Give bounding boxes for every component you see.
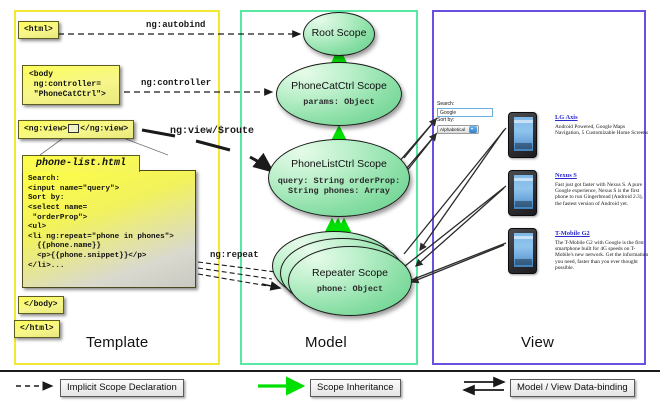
search-label: Search: — [437, 101, 495, 108]
legend-item-implicit-scope: Implicit Scope Declaration — [60, 379, 184, 397]
column-label-view: View — [521, 334, 554, 351]
phone-thumbnail — [508, 170, 537, 216]
code-tag-ngview: <ng:view></ng:view> — [18, 120, 134, 139]
scope-phonelistctrl-props: query: String orderProp: String phones: … — [269, 176, 409, 196]
scope-phonecatctrl-props: params: Object — [303, 97, 374, 107]
column-label-model: Model — [305, 334, 347, 351]
scope-root-name: Root Scope — [312, 28, 367, 40]
ngview-close-text: </ng:view> — [80, 125, 128, 134]
sort-label: Sort by: — [437, 117, 495, 124]
view-search-form: Search: Google Sort by: Alphabetical — [437, 101, 495, 134]
chevron-down-icon — [469, 126, 477, 133]
code-tag-body-open: <body ng:controller= "PhoneCatCtrl"> — [22, 65, 120, 105]
label-ng-view-route: ng:view/$route — [170, 126, 254, 137]
phone-snippet: The T-Mobile G2 with Google is the first… — [555, 240, 650, 272]
phone-thumbnail — [508, 228, 537, 274]
scope-repeater-name: Repeater Scope — [312, 268, 388, 280]
legend-item-data-binding: Model / View Data-binding — [510, 379, 635, 397]
ngview-open-text: <ng:view> — [24, 125, 67, 134]
scope-repeater-props: phone: Object — [317, 284, 383, 294]
code-tag-html-close: </html> — [14, 320, 60, 338]
search-input[interactable]: Google — [437, 108, 493, 117]
label-ng-repeat: ng:repeat — [210, 250, 259, 260]
column-label-template: Template — [86, 334, 148, 351]
diagram-root: <html> <body ng:controller= "PhoneCatCtr… — [0, 0, 660, 405]
code-tag-html-open: <html> — [18, 21, 59, 39]
legend-item-scope-inheritance: Scope Inheritance — [310, 379, 401, 397]
label-ng-controller: ng:controller — [141, 78, 211, 88]
sort-select[interactable]: Alphabetical — [437, 125, 479, 134]
scope-phonelistctrl: PhoneListCtrl Scope query: String orderP… — [268, 139, 410, 217]
scope-phonecatctrl-name: PhoneCatCtrl Scope — [291, 81, 387, 93]
sort-select-value: Alphabetical — [438, 127, 469, 132]
phone-name-link[interactable]: Nexus S — [555, 172, 650, 180]
legend-divider — [0, 370, 660, 372]
phone-snippet: Android Powered, Google Maps Navigation,… — [555, 124, 650, 137]
phone-name-link[interactable]: T-Mobile G2 — [555, 230, 650, 238]
label-ng-autobind: ng:autobind — [146, 20, 205, 30]
phone-thumbnail — [508, 112, 537, 158]
note-title: phone-list.html — [22, 155, 140, 172]
phone-name-link[interactable]: LG Axis — [555, 114, 650, 122]
scope-root: Root Scope — [303, 12, 375, 56]
note-code: Search: <input name="query"> Sort by: <s… — [22, 170, 196, 288]
phone-snippet: Fast just got faster with Nexus S. A pur… — [555, 182, 650, 208]
scope-phonelistctrl-name: PhoneListCtrl Scope — [291, 159, 387, 171]
phone-list-note: phone-list.html Search: <input name="que… — [22, 155, 196, 290]
code-tag-body-close: </body> — [18, 296, 64, 314]
ngview-placeholder-icon — [68, 124, 79, 133]
scope-phonecatctrl: PhoneCatCtrl Scope params: Object — [276, 62, 402, 126]
scope-repeater: Repeater Scope phone: Object — [288, 246, 412, 316]
